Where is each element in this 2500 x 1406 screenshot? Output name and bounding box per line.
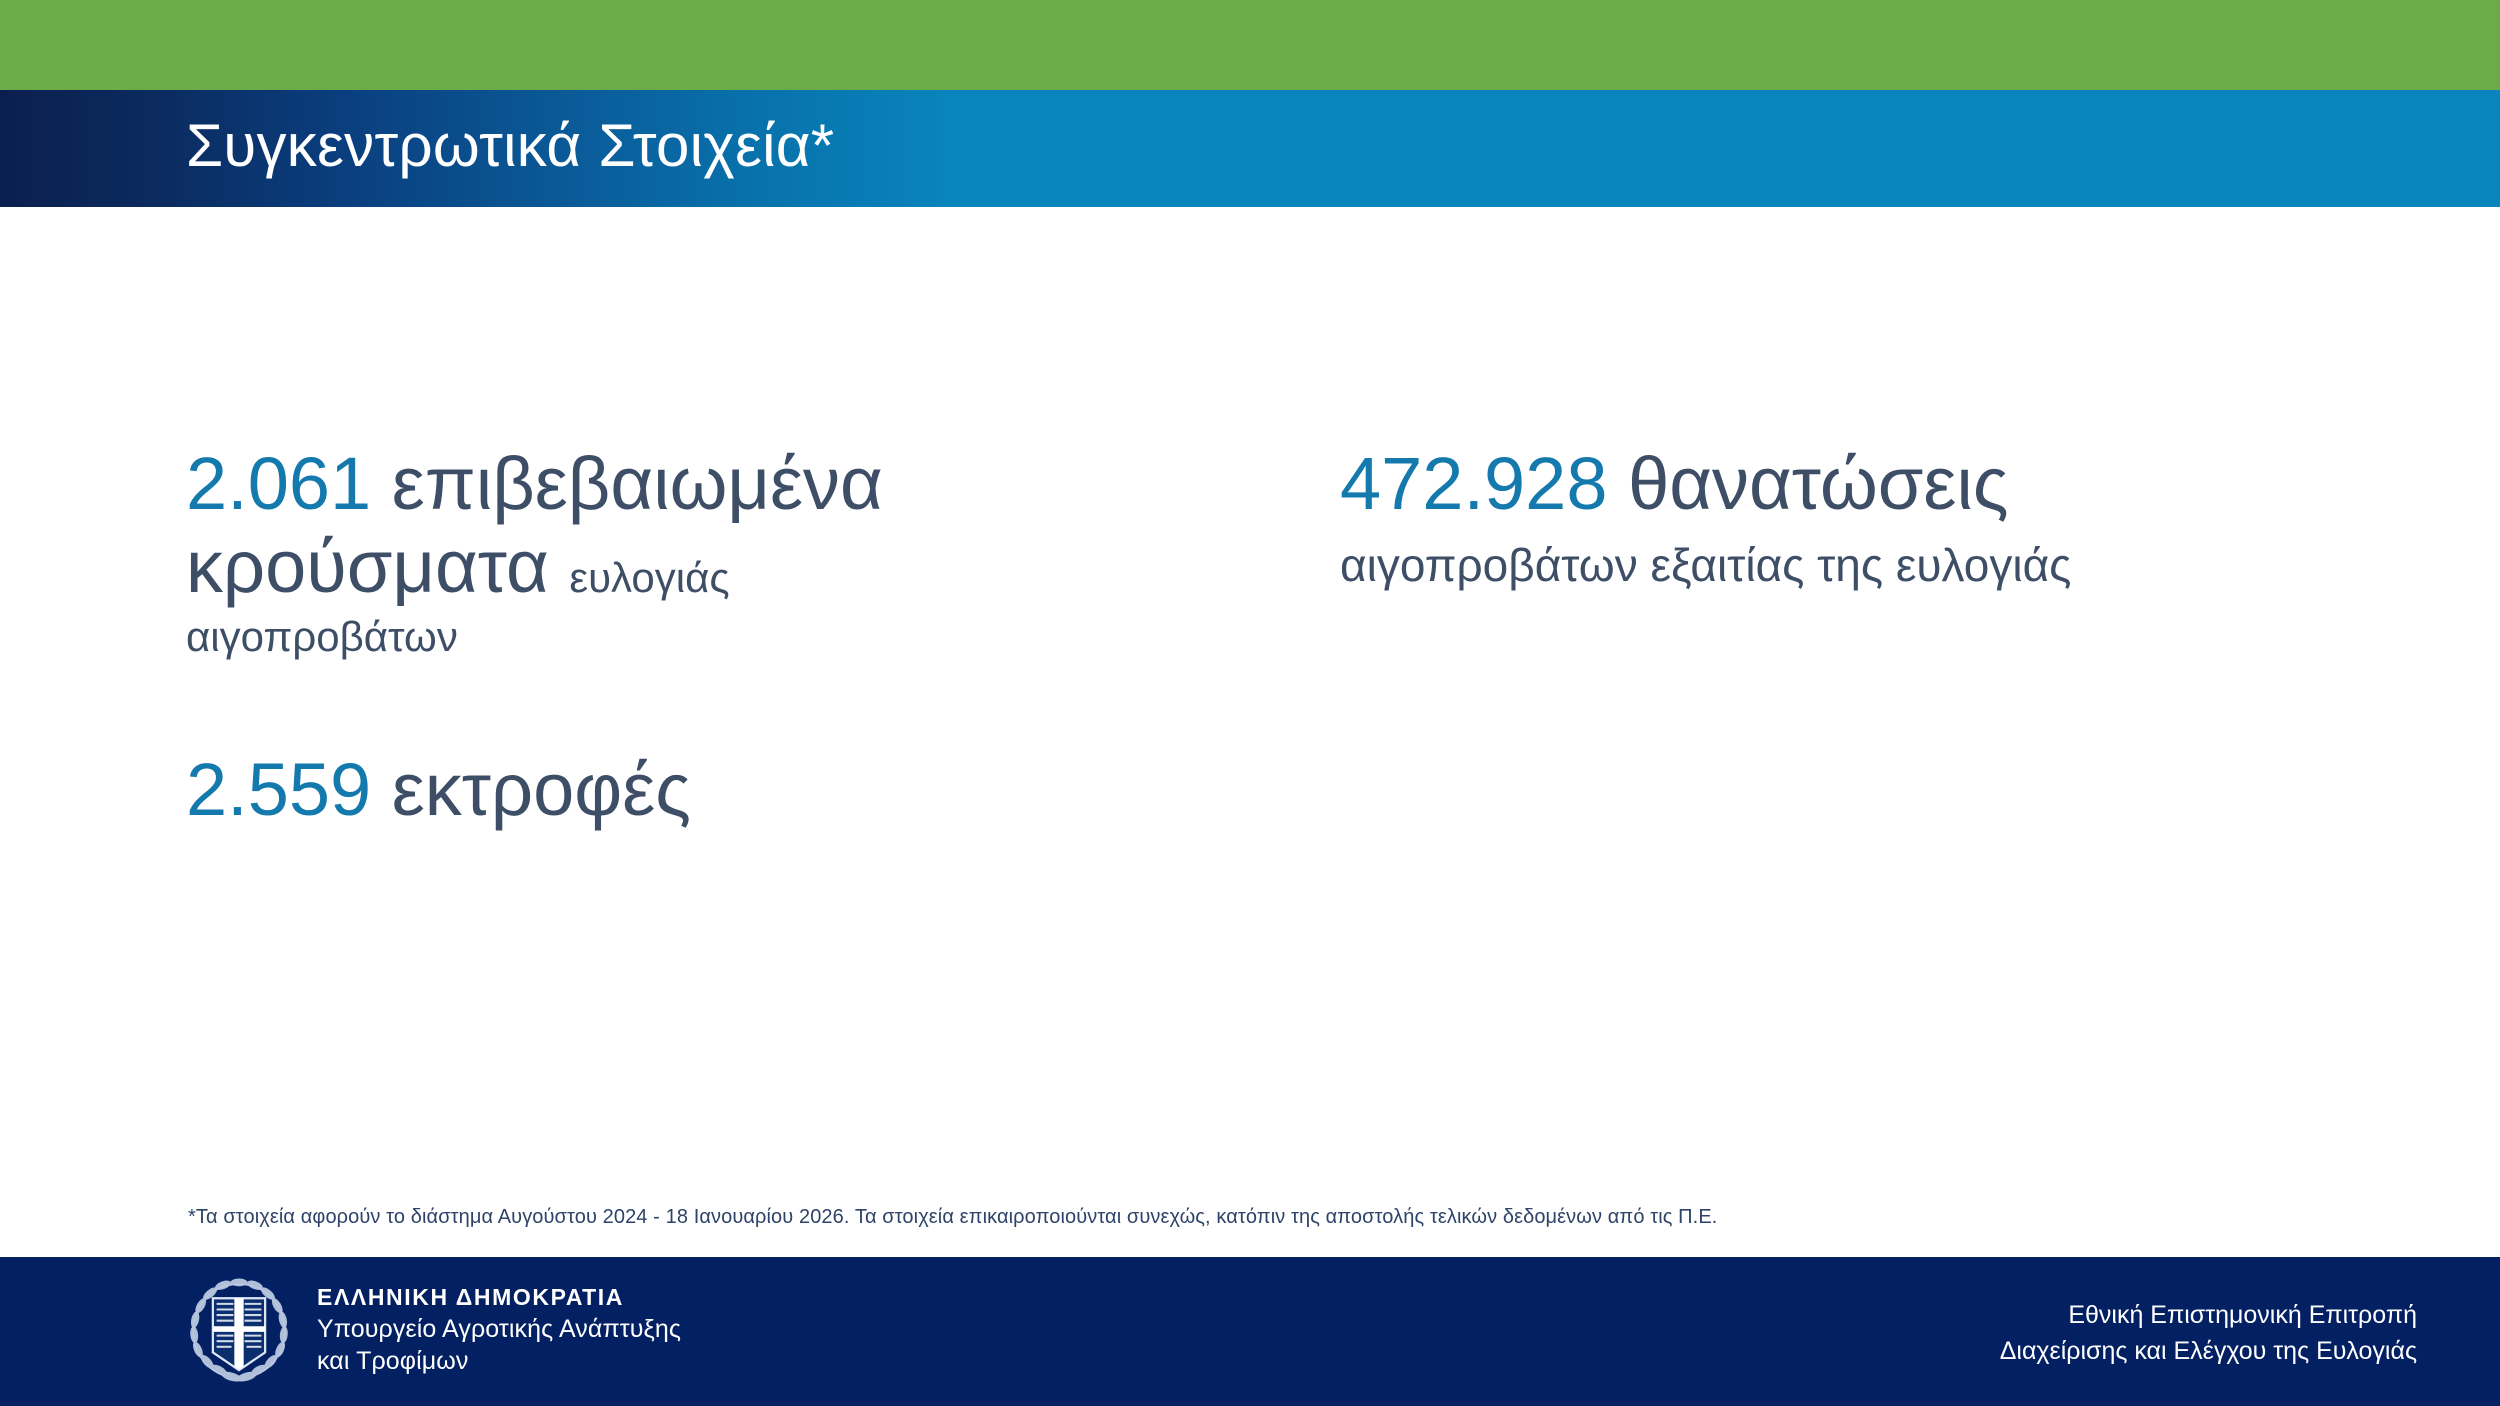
stat-confirmed-cases: 2.061 επιβεβαιωμένα κρούσματα ευλογιάς α… bbox=[186, 443, 1266, 663]
footer-committee-block: Εθνική Επιστημονική Επιτροπή Διαχείρισης… bbox=[2000, 1297, 2417, 1370]
committee-line-2: Διαχείρισης και Ελέγχου της Ευλογιάς bbox=[2000, 1333, 2417, 1369]
stat-label-farms: εκτροφές bbox=[392, 748, 691, 831]
stat-culls: 472.928 θανατώσεις αιγοπροβάτων εξαιτίας… bbox=[1340, 443, 2360, 596]
stat-line-3: 2.559 εκτροφές bbox=[186, 749, 1266, 832]
stat-label-culls-sub: αιγοπροβάτων εξαιτίας της ευλογιάς bbox=[1340, 536, 2360, 596]
stats-column-left: 2.061 επιβεβαιωμένα κρούσματα ευλογιάς α… bbox=[186, 443, 1266, 832]
footnote: *Τα στοιχεία αφορούν το διάστημα Αυγούστ… bbox=[188, 1206, 1717, 1229]
stat-number-culls: 472.928 bbox=[1340, 442, 1608, 525]
hellenic-republic-coat-of-arms-icon bbox=[183, 1274, 295, 1386]
stats-column-right: 472.928 θανατώσεις αιγοπροβάτων εξαιτίας… bbox=[1340, 443, 2360, 596]
stat-label-cases-1: επιβεβαιωμένα bbox=[392, 442, 883, 525]
title-band: Συγκεντρωτικά Στοιχεία* bbox=[0, 90, 2500, 207]
stat-line-4: 472.928 θανατώσεις bbox=[1340, 443, 2360, 526]
stat-line-2: κρούσματα ευλογιάς bbox=[186, 526, 1266, 609]
top-green-band bbox=[0, 0, 2500, 90]
page-title: Συγκεντρωτικά Στοιχεία* bbox=[186, 116, 834, 176]
ministry-line-3: και Τροφίμων bbox=[317, 1345, 681, 1377]
ministry-line-1: ΕΛΛΗΝΙΚΗ ΔΗΜΟΚΡΑΤΙΑ bbox=[317, 1283, 681, 1312]
main-content: 2.061 επιβεβαιωμένα κρούσματα ευλογιάς α… bbox=[0, 207, 2500, 1257]
stat-label-cases-sub: αιγοπροβάτων bbox=[186, 611, 1266, 664]
footer-ministry-block: ΕΛΛΗΝΙΚΗ ΔΗΜΟΚΡΑΤΙΑ Υπουργείο Αγροτικής … bbox=[183, 1274, 681, 1386]
ministry-line-2: Υπουργείο Αγροτικής Ανάπτυξης bbox=[317, 1313, 681, 1345]
footer-bar: ΕΛΛΗΝΙΚΗ ΔΗΜΟΚΡΑΤΙΑ Υπουργείο Αγροτικής … bbox=[0, 1257, 2500, 1406]
ministry-text: ΕΛΛΗΝΙΚΗ ΔΗΜΟΚΡΑΤΙΑ Υπουργείο Αγροτικής … bbox=[317, 1283, 681, 1376]
committee-line-1: Εθνική Επιστημονική Επιτροπή bbox=[2000, 1297, 2417, 1333]
stat-number-cases: 2.061 bbox=[186, 442, 371, 525]
slide-root: Συγκεντρωτικά Στοιχεία* 2.061 επιβεβαιωμ… bbox=[0, 0, 2500, 1406]
stat-label-culls: θανατώσεις bbox=[1628, 442, 2008, 525]
stat-number-farms: 2.559 bbox=[186, 748, 371, 831]
stat-farms: 2.559 εκτροφές bbox=[186, 749, 1266, 832]
stat-line-1: 2.061 επιβεβαιωμένα bbox=[186, 443, 1266, 526]
stat-label-cases-inline: ευλογιάς bbox=[569, 554, 729, 601]
stat-label-cases-2: κρούσματα bbox=[186, 525, 549, 608]
